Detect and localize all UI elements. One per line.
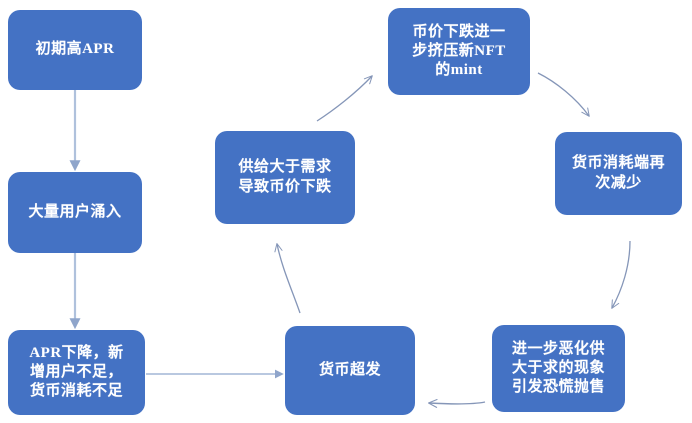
node-supply-exceeds-demand[interactable]: 供给大于需求 导致币价下跌 [215, 131, 355, 224]
node-label: 进一步恶化供 大于求的现象 引发恐慌抛售 [512, 340, 605, 398]
node-mass-user-influx[interactable]: 大量用户涌入 [8, 172, 142, 253]
node-label: 货币消耗端再 次减少 [572, 154, 665, 192]
node-worsened-oversupply-panic-selling[interactable]: 进一步恶化供 大于求的现象 引发恐慌抛售 [492, 325, 625, 412]
node-token-overissuance[interactable]: 货币超发 [285, 326, 415, 415]
edge-panic-selling-to-overissuance [429, 402, 485, 404]
edge-overissuance-to-supply-exceeds-demand [277, 244, 300, 313]
node-price-drop-squeezes-nft-mint[interactable]: 币价下跌进一 步挤压新NFT 的mint [388, 8, 530, 95]
edge-nft-mint-to-burn-reduced [538, 73, 589, 116]
node-initial-high-apr[interactable]: 初期高APR [8, 10, 142, 90]
node-apr-decline[interactable]: APR下降，新 增用户不足， 货币消耗不足 [8, 330, 145, 415]
node-label: 供给大于需求 导致币价下跌 [238, 158, 331, 196]
edge-burn-reduced-to-panic-selling [612, 241, 630, 308]
node-label: 货币超发 [319, 361, 381, 380]
node-label: 币价下跌进一 步挤压新NFT 的mint [412, 23, 506, 81]
node-label: 初期高APR [36, 40, 115, 59]
flowchart-canvas: 初期高APR 大量用户涌入 APR下降，新 增用户不足， 货币消耗不足 货币超发… [0, 0, 692, 423]
node-token-burn-reduced-again[interactable]: 货币消耗端再 次减少 [555, 132, 682, 215]
edge-supply-exceeds-demand-to-nft-mint [317, 76, 372, 121]
node-label: APR下降，新 增用户不足， 货币消耗不足 [29, 344, 123, 402]
node-label: 大量用户涌入 [28, 203, 121, 222]
